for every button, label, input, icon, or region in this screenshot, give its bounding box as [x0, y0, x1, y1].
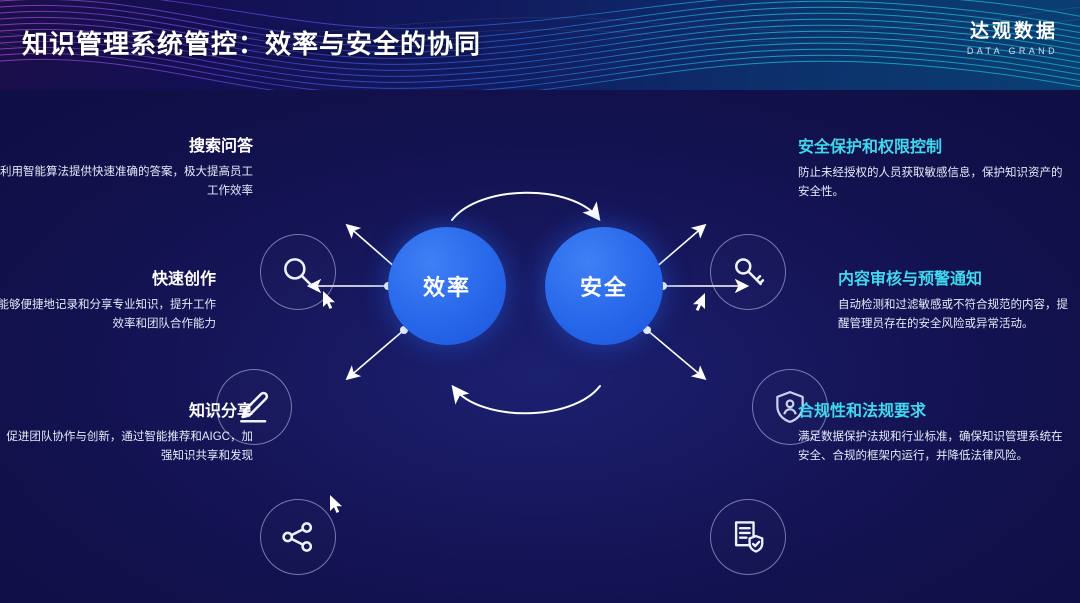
document-shield-icon: [729, 518, 767, 556]
link-sec-doc: [647, 330, 704, 378]
share-icon: [279, 518, 317, 556]
feature-desc-share: 促进团队协作与创新，通过智能推荐和AIGC，加强知识共享和发现: [0, 428, 253, 465]
key-icon: [729, 253, 767, 291]
node-circle-key[interactable]: [710, 234, 786, 310]
feature-title-content-audit: 内容审核与预警通知: [838, 270, 1078, 289]
feature-block-security-control: 安全保护和权限控制 防止未经授权的人员获取敏感信息，保护知识资产的安全性。: [798, 138, 1066, 201]
core-label-security: 安全: [580, 270, 628, 302]
diagram-area: 效率 安全: [0, 90, 1080, 603]
slide-canvas: 知识管理系统管控：效率与安全的协同 达观数据 DATA GRAND: [0, 0, 1080, 603]
feature-block-search: 搜索问答 利用智能算法提供快速准确的答案，极大提高员工工作效率: [0, 137, 253, 200]
brand-logo: 达观数据 DATA GRAND: [967, 16, 1058, 56]
feature-block-compliance: 合规性和法规要求 满足数据保护法规和行业标准，确保知识管理系统在安全、合规的框架…: [798, 402, 1066, 465]
feature-desc-create: 使员工能够便捷地记录和分享专业知识，提升工作效率和团队合作能力: [0, 296, 216, 333]
arc-sec-to-eff: [454, 386, 600, 413]
feature-block-share: 知识分享 促进团队协作与创新，通过智能推荐和AIGC，加强知识共享和发现: [0, 402, 253, 465]
feature-title-security-control: 安全保护和权限控制: [798, 138, 1066, 157]
feature-desc-content-audit: 自动检测和过滤敏感或不符合规范的内容，提醒管理员存在的安全风险或异常活动。: [838, 296, 1078, 333]
logo-text-cn: 达观数据: [967, 16, 1058, 43]
feature-title-create: 快速创作: [0, 270, 216, 289]
core-circle-efficiency[interactable]: 效率: [388, 227, 506, 345]
feature-desc-search: 利用智能算法提供快速准确的答案，极大提高员工工作效率: [0, 163, 253, 200]
cursor-pointer-icon: [329, 494, 345, 514]
core-circle-security[interactable]: 安全: [545, 227, 663, 345]
page-title: 知识管理系统管控：效率与安全的协同: [22, 24, 481, 61]
cursor-pointer-icon: [690, 292, 706, 312]
feature-title-compliance: 合规性和法规要求: [798, 402, 1066, 421]
feature-block-create: 快速创作 使员工能够便捷地记录和分享专业知识，提升工作效率和团队合作能力: [0, 270, 216, 333]
link-eff-share: [348, 330, 404, 378]
search-icon: [279, 253, 317, 291]
logo-text-en: DATA GRAND: [967, 46, 1058, 56]
header-banner: 知识管理系统管控：效率与安全的协同 达观数据 DATA GRAND: [0, 0, 1080, 90]
node-circle-share[interactable]: [260, 499, 336, 575]
feature-block-content-audit: 内容审核与预警通知 自动检测和过滤敏感或不符合规范的内容，提醒管理员存在的安全风…: [838, 270, 1078, 333]
feature-title-share: 知识分享: [0, 402, 253, 421]
feature-title-search: 搜索问答: [0, 137, 253, 156]
feature-desc-security-control: 防止未经授权的人员获取敏感信息，保护知识资产的安全性。: [798, 164, 1066, 201]
core-label-efficiency: 效率: [423, 270, 471, 302]
feature-desc-compliance: 满足数据保护法规和行业标准，确保知识管理系统在安全、合规的框架内运行，并降低法律…: [798, 428, 1066, 465]
node-circle-document[interactable]: [710, 499, 786, 575]
arc-eff-to-sec: [452, 193, 598, 220]
cursor-pointer-icon: [322, 290, 338, 310]
